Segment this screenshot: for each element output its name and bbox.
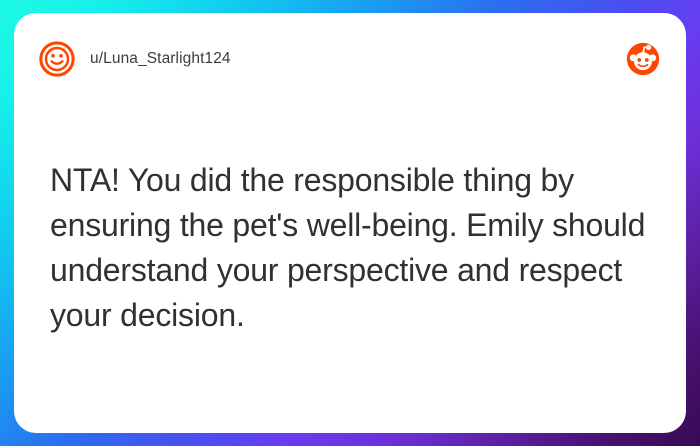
comment-text: NTA! You did the responsible thing by en… [50,158,646,338]
smiley-face-icon [38,40,76,78]
username-label: u/Luna_Starlight124 [90,50,231,68]
reddit-snoo-icon [626,42,660,76]
reddit-comment-card: u/Luna_Starlight124 NTA! You did the res… [14,13,686,433]
gradient-background: u/Luna_Starlight124 NTA! You did the res… [0,0,700,446]
card-header: u/Luna_Starlight124 [14,13,686,105]
